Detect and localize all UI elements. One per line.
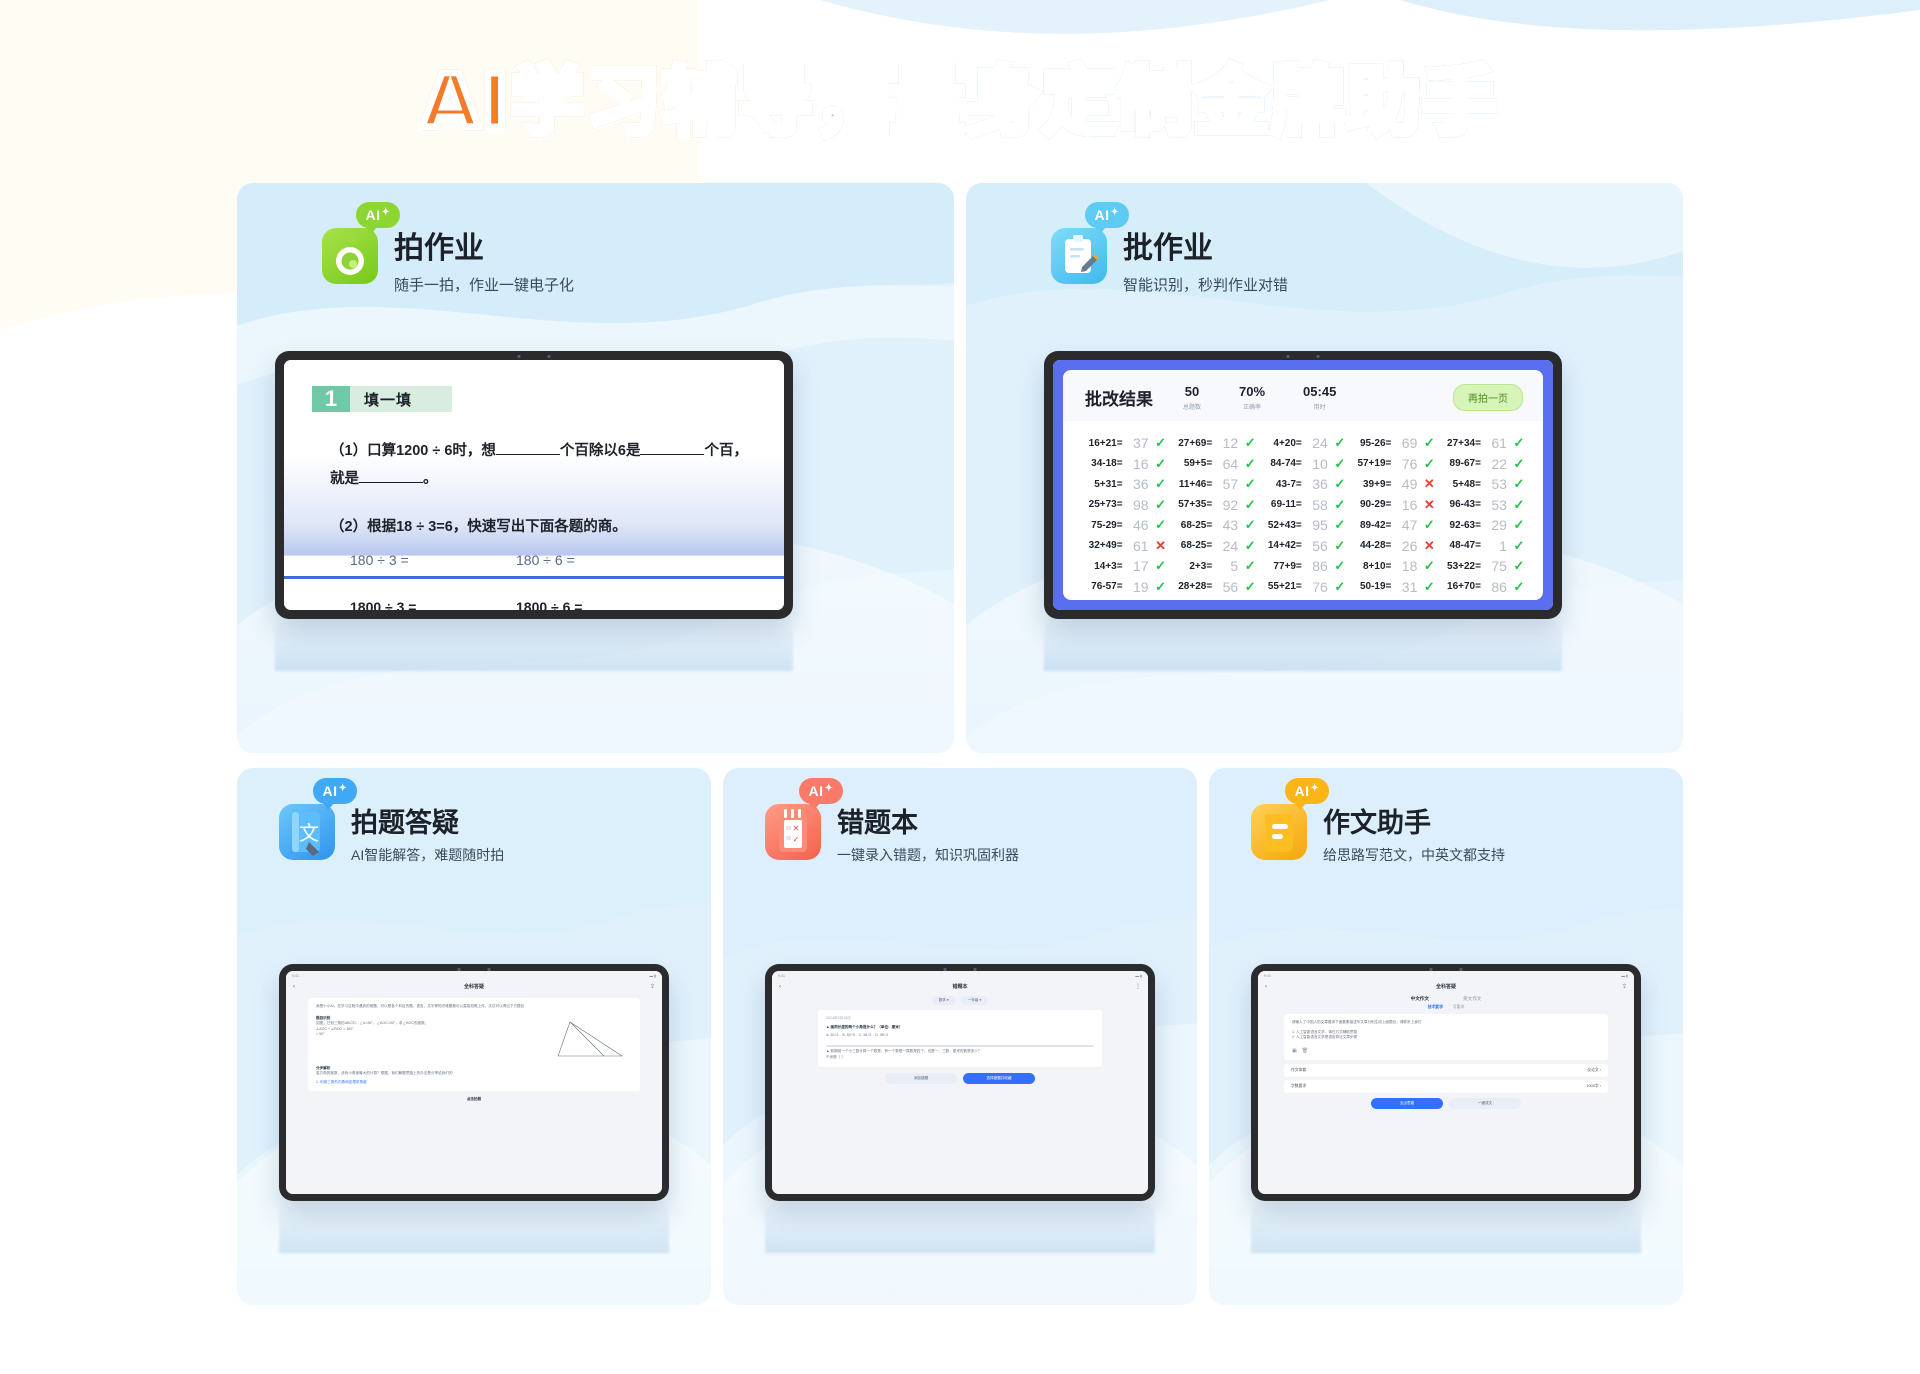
grading-expression: 55+21= <box>1268 581 1302 592</box>
grading-answer: 1 <box>1485 538 1507 554</box>
card-text: 作文助手 给思路写范文，中英文都支持 <box>1323 804 1505 865</box>
grading-answer: 18 <box>1395 558 1417 574</box>
back-icon[interactable]: ‹ <box>293 984 295 990</box>
grading-answer: 81 <box>1306 599 1328 600</box>
grading-expression: 5+48= <box>1453 479 1481 490</box>
tab-english-essay[interactable]: 英文作文 <box>1463 996 1481 1002</box>
grading-expression: 4+20= <box>1273 438 1301 449</box>
back-icon[interactable]: ‹ <box>1265 984 1267 990</box>
grading-expression: 68-25= <box>1181 540 1212 551</box>
grading-answer: 49 <box>1395 476 1417 492</box>
filter-subject[interactable]: 数学 ▾ <box>932 996 956 1005</box>
card-header-essay-assistant: AI✦ 作文助手 给思路写范文，中英文都支持 <box>1209 768 1683 865</box>
card-header-grade-homework: AI✦ 批作业 智能识别，秒判作业对错 <box>966 183 1683 295</box>
grading-expression: 76-57= <box>1091 581 1122 592</box>
status-time: 9:41 <box>1264 974 1271 978</box>
option-3[interactable]: D. 96÷3 <box>875 1033 888 1039</box>
ai-badge-label: AI <box>323 783 338 799</box>
nav-title: 错题本 <box>952 983 967 990</box>
icon-box: AI✦ ✕✓ <box>765 804 821 860</box>
grading-cell: 27+34=61✓ <box>1437 433 1527 454</box>
grading-cell: 76-57=19✓ <box>1079 577 1169 598</box>
card-text: 批作业 智能识别，秒判作业对错 <box>1123 228 1288 295</box>
book-wen-icon: 文 <box>279 804 335 860</box>
clipboard-pencil-icon <box>1051 228 1107 284</box>
check-icon: ✓ <box>1242 476 1258 492</box>
grading-cell: 68-25=43✓ <box>1169 515 1259 536</box>
check-icon: ✓ <box>1511 517 1527 533</box>
grading-answer: 92 <box>1216 497 1238 513</box>
tablet-frame: 9:41 ▬ ▮ ‹ 全科答疑 ⇪ 中文作文 英文作文 <box>1251 964 1641 1201</box>
icon-box: AI✦ 文 <box>279 804 335 860</box>
grading-answer: 76 <box>1306 579 1328 595</box>
check-icon: ✓ <box>1242 558 1258 574</box>
card-title: 拍作业 <box>394 232 574 267</box>
add-mistake-button[interactable]: 添加错题 <box>885 1073 957 1084</box>
card-title: 批作业 <box>1123 232 1288 267</box>
grading-cell: 32+49=61✕ <box>1079 536 1169 557</box>
grading-answer: 64 <box>1216 599 1238 600</box>
grading-cell: 69-11=58✓ <box>1258 495 1348 516</box>
mistake-extra-line: 千米是（ ） <box>826 1055 1094 1061</box>
tablet-frame: 批改结果 50 总题数 70% 正确率 <box>1044 351 1562 619</box>
essay-subtabs: 技术要求 写要求 <box>1258 1005 1634 1010</box>
grading-expression: 14+42= <box>1268 540 1302 551</box>
stat-value: 50 <box>1183 384 1201 399</box>
grading-cell: 4+20=24✓ <box>1258 433 1348 454</box>
grading-expression: 90-29= <box>1360 499 1391 510</box>
card-text: 拍作业 随手一拍，作业一键电子化 <box>394 228 574 295</box>
card-photo-homework[interactable]: AI✦ 拍作业 随手一拍，作业一键电子化 1 <box>237 183 954 753</box>
option-2[interactable]: C. 36÷3 <box>859 1033 872 1039</box>
tablet-worksheet-wrap: 1 填一填 （1）口算1200 ÷ 6时，想个百除以6是个百， 就是。 （2）根… <box>275 351 793 619</box>
grading-answer: 37 <box>1127 435 1149 451</box>
check-icon: ✓ <box>1242 579 1258 595</box>
grading-expression: 89-67= <box>1450 458 1481 469</box>
grading-expression: 16+70= <box>1447 581 1481 592</box>
mistake-item-card[interactable]: 2024年3月15日 ▲ 画同长度的两个小角是什么？（单位：厘米） A. 30÷… <box>818 1010 1102 1067</box>
grading-column: 27+34=61✓89-67=22✓5+48=53✓96-43=53✓92-63… <box>1437 433 1527 600</box>
qa-section2-body: 若方角的度数，该有小角度最大的计算？根据，我们解题思路上的办法是分享给我们的 <box>316 1071 632 1077</box>
equation-bold-1: 1800 ÷ 6 = <box>516 599 682 610</box>
check-icon: ✓ <box>1153 579 1169 595</box>
grading-cell: 11+46=57✓ <box>1169 474 1259 495</box>
grading-expression: 16+21= <box>1089 438 1123 449</box>
status-bar: 9:41 ▬ ▮ <box>1258 971 1634 981</box>
grading-answer: 75 <box>1485 558 1507 574</box>
page-title: AI学习辅导，量身定制金牌助手 <box>422 42 1499 149</box>
ai-badge-label: AI <box>1095 207 1110 223</box>
icon-box: AI✦ <box>1051 228 1107 284</box>
cross-icon: ✕ <box>1421 538 1437 554</box>
tablet-frame: 1 填一填 （1）口算1200 ÷ 6时，想个百除以6是个百， 就是。 （2）根… <box>275 351 793 619</box>
grading-answer: 26 <box>1395 538 1417 554</box>
tablet-screen[interactable]: 9:41 ▬ ▮ ‹ 错题本 ⋮ 数学 ▾ 一年级 ▾ <box>772 971 1148 1194</box>
check-icon: ✓ <box>1421 599 1437 600</box>
grading-cell: 34-18=16✓ <box>1079 454 1169 475</box>
grading-cell: 90-29=16✕ <box>1348 495 1438 516</box>
grading-cell: 46-29=17✓ <box>1437 597 1527 600</box>
nav-bar: ‹ 错题本 ⋮ <box>772 981 1148 993</box>
grading-cell: 57+35=92✓ <box>1169 495 1259 516</box>
tablet-reflection <box>275 619 793 671</box>
blank-1[interactable] <box>496 454 560 455</box>
card-mistake-notebook[interactable]: AI✦ ✕✓ 错题本 一键录入错题，知识巩固利器 9:41 <box>723 768 1197 1305</box>
ai-badge-label: AI <box>366 207 381 223</box>
grading-cell: 92-63=29✓ <box>1437 515 1527 536</box>
check-icon: ✓ <box>1242 599 1258 600</box>
q1-mid: 个百除以6是 <box>560 443 641 459</box>
grading-answer: 36 <box>1127 476 1149 492</box>
worksheet-question-1: （1）口算1200 ÷ 6时，想个百除以6是个百， 就是。 <box>330 438 784 493</box>
svg-text:✓: ✓ <box>793 835 800 844</box>
length-label: 字数要求 <box>1291 1084 1306 1089</box>
nav-title: 全科答疑 <box>1436 983 1456 990</box>
grading-stat-2: 05:45 用时 <box>1303 384 1336 411</box>
sparkle-icon: ✦ <box>382 207 391 218</box>
grading-stats: 50 总题数 70% 正确率 05:45 <box>1183 384 1336 411</box>
grading-cell: 16+70=86✓ <box>1437 577 1527 598</box>
grading-answer: 57 <box>1216 476 1238 492</box>
grading-header: 批改结果 50 总题数 70% 正确率 <box>1063 370 1543 421</box>
qa-footer-button[interactable]: 点击拍照 <box>467 1097 481 1101</box>
svg-text:文: 文 <box>299 821 319 845</box>
grading-expression: 75-29= <box>1091 520 1122 531</box>
ai-badge: AI✦ <box>799 778 843 804</box>
generate-outline-button[interactable]: 支出思路 <box>1371 1098 1443 1109</box>
grading-answer: 69 <box>1395 435 1417 451</box>
grading-screen: 批改结果 50 总题数 70% 正确率 <box>1053 360 1553 610</box>
grading-cell: 27+69=12✓ <box>1169 433 1259 454</box>
check-icon: ✓ <box>1421 456 1437 472</box>
card-title: 拍题答疑 <box>351 808 504 839</box>
grading-expression: 69-11= <box>1271 499 1302 510</box>
subtab-0[interactable]: 技术要求 <box>1428 1005 1443 1010</box>
grading-cell: 77+9=86✓ <box>1258 556 1348 577</box>
card-subtitle: 给思路写范文，中英文都支持 <box>1323 845 1505 865</box>
card-essay-assistant[interactable]: AI✦ 作文助手 给思路写范文，中英文都支持 9:41 <box>1209 768 1683 1305</box>
grading-cell: 95-26=69✓ <box>1348 433 1438 454</box>
grading-answer: 16 <box>1127 456 1149 472</box>
svg-text:✕: ✕ <box>793 824 800 833</box>
grading-expression: 77+9= <box>1273 561 1301 572</box>
grading-cell: 89-42=47✓ <box>1348 515 1438 536</box>
tablet-grading-wrap: 批改结果 50 总题数 70% 正确率 <box>1044 351 1562 619</box>
stat-label: 正确率 <box>1239 402 1265 411</box>
card-grade-homework[interactable]: AI✦ 批作业 智能识别，秒判作业对错 <box>966 183 1683 753</box>
stat-label: 总题数 <box>1183 402 1201 411</box>
grading-cell: 2+3=5✓ <box>1169 556 1259 577</box>
card-subtitle: 智能识别，秒判作业对错 <box>1123 274 1288 295</box>
grading-expression: 84-74= <box>1270 458 1301 469</box>
grading-expression: 8+10= <box>1363 561 1391 572</box>
grading-column: 27+69=12✓59+5=64✓11+46=57✓57+35=92✓68-25… <box>1169 433 1259 600</box>
card-title: 作文助手 <box>1323 808 1505 839</box>
one-click-essay-button[interactable]: 一键成文 <box>1449 1098 1521 1109</box>
worksheet-equations-gray: 180 ÷ 3 = 180 ÷ 6 = <box>350 552 784 568</box>
grading-answer: 76 <box>1395 456 1417 472</box>
stat-label: 用时 <box>1303 402 1336 411</box>
equation-gray-1: 180 ÷ 6 = <box>516 552 682 568</box>
grading-cell: 14+3=17✓ <box>1079 556 1169 577</box>
check-icon: ✓ <box>1421 579 1437 595</box>
grading-answer: 98 <box>1127 497 1149 513</box>
grading-answer: 19 <box>1127 579 1149 595</box>
check-icon: ✓ <box>1332 558 1348 574</box>
card-header-photo-homework: AI✦ 拍作业 随手一拍，作业一键电子化 <box>237 183 954 295</box>
tablet-screen[interactable]: 9:41 ▬ ▮ ‹ 全科答疑 ⇪ 我是小小AI，在学习过程中遇到的难题，可以是… <box>286 971 662 1194</box>
essay-app: 9:41 ▬ ▮ ‹ 全科答疑 ⇪ 中文作文 英文作文 <box>1258 971 1634 1194</box>
collect-mistake-button[interactable]: 选择错题并收藏 <box>963 1073 1035 1084</box>
check-icon: ✓ <box>1511 538 1527 554</box>
status-bar: 9:41 ▬ ▮ <box>286 971 662 981</box>
ai-badge: AI✦ <box>1085 202 1129 228</box>
grading-expression: 44-28= <box>1360 540 1391 551</box>
grading-expression: 50-19= <box>1360 581 1391 592</box>
camera-icon <box>322 228 378 284</box>
share-icon[interactable]: ⇪ <box>1622 983 1627 990</box>
more-icon[interactable]: ⋮ <box>1135 983 1141 990</box>
grading-expression: 89-42= <box>1360 520 1391 531</box>
check-icon: ✓ <box>1332 476 1348 492</box>
grading-cell: 28+28=56✓ <box>1169 577 1259 598</box>
essay-input-card[interactable]: 请输入了中国人的文章要求下面要素描述写文章分别生成上面题目，请联系上我们 1. … <box>1284 1014 1608 1060</box>
card-subtitle: 随手一拍，作业一键电子化 <box>394 274 574 295</box>
grading-expression: 34-18= <box>1091 458 1122 469</box>
tablet-frame: 9:41 ▬ ▮ ‹ 错题本 ⋮ 数学 ▾ 一年级 ▾ <box>765 964 1155 1201</box>
grading-cell: 8+10=18✓ <box>1348 556 1438 577</box>
grading-answer: 12 <box>1216 435 1238 451</box>
status-icons: ▬ ▮ <box>1135 974 1142 978</box>
card-subtitle: AI智能解答，难题随时拍 <box>351 845 504 865</box>
essay-bullet-1: 2. 人工智能语言文学是语言算法文章步骤 <box>1292 1035 1600 1041</box>
retake-page-button[interactable]: 再拍一页 <box>1453 384 1523 411</box>
tablet-reflection <box>279 1201 669 1253</box>
grading-answer: 61 <box>1485 435 1507 451</box>
page-title-wrap: AI学习辅导，量身定制金牌助手 <box>0 42 1920 149</box>
back-icon[interactable]: ‹ <box>779 984 781 990</box>
delete-icon[interactable]: 🗑 <box>1302 1048 1308 1054</box>
tablet-reflection <box>1044 619 1562 671</box>
card-header-mistake-notebook: AI✦ ✕✓ 错题本 一键录入错题，知识巩固利器 <box>723 768 1197 865</box>
option-0[interactable]: A. 30÷3 <box>826 1033 838 1039</box>
tablet-screen[interactable]: 9:41 ▬ ▮ ‹ 全科答疑 ⇪ 中文作文 英文作文 <box>1258 971 1634 1194</box>
check-icon: ✓ <box>1242 435 1258 451</box>
equation-gray-0: 180 ÷ 3 = <box>350 552 516 568</box>
grading-answer: 24 <box>1306 435 1328 451</box>
worksheet-equations-bold: 1800 ÷ 3 = 1800 ÷ 6 = <box>350 599 784 610</box>
camera-icon[interactable]: ▣ <box>1292 1048 1297 1054</box>
length-value: 1000字 › <box>1586 1084 1601 1089</box>
icon-box: AI✦ <box>322 228 378 284</box>
grading-answer: 17 <box>1485 599 1507 600</box>
filter-grade[interactable]: 一年级 ▾ <box>961 996 989 1005</box>
grading-cell: 5+48=53✓ <box>1437 474 1527 495</box>
status-icons: ▬ ▮ <box>649 974 656 978</box>
check-icon: ✓ <box>1511 456 1527 472</box>
grading-expression: 48-47= <box>1450 540 1481 551</box>
ai-badge-label: AI <box>1295 783 1310 799</box>
grading-expression: 52+43= <box>1268 520 1302 531</box>
q1-suffix: 个百， <box>704 443 748 459</box>
qa-app: 9:41 ▬ ▮ ‹ 全科答疑 ⇪ 我是小小AI，在学习过程中遇到的难题，可以是… <box>286 971 662 1194</box>
tablet-screen[interactable]: 1 填一填 （1）口算1200 ÷ 6时，想个百除以6是个百， 就是。 （2）根… <box>284 360 784 610</box>
ai-badge: AI✦ <box>313 778 357 804</box>
grading-expression: 95-26= <box>1360 438 1391 449</box>
mistakes-app: 9:41 ▬ ▮ ‹ 错题本 ⋮ 数学 ▾ 一年级 ▾ <box>772 971 1148 1194</box>
worksheet-tag-label: 填一填 <box>350 386 452 412</box>
grading-answer: 96 <box>1127 599 1149 600</box>
card-row-top: AI✦ 拍作业 随手一拍，作业一键电子化 1 <box>237 183 1684 753</box>
check-icon: ✓ <box>1511 558 1527 574</box>
sparkle-icon: ✦ <box>339 783 348 794</box>
feature-card-grid: AI✦ 拍作业 随手一拍，作业一键电子化 1 <box>237 183 1684 1305</box>
grading-expression: 27+34= <box>1447 438 1481 449</box>
qa-content-card: 我是小小AI，在学习过程中遇到的难题，可以是各个科目的题，语言、文字等知识难题都… <box>308 998 640 1091</box>
grading-expression: 92-63= <box>1450 520 1481 531</box>
grading-expression: 2+3= <box>1189 561 1212 572</box>
card-subtitle: 一键录入错题，知识巩固利器 <box>837 845 1019 865</box>
tablet-mistakes-wrap: 9:41 ▬ ▮ ‹ 错题本 ⋮ 数学 ▾ 一年级 ▾ <box>765 964 1155 1201</box>
grading-expression: 57+19= <box>1357 458 1391 469</box>
grading-cell: 43-7=36✓ <box>1258 474 1348 495</box>
cross-icon: ✕ <box>1421 497 1437 513</box>
check-icon: ✓ <box>1153 435 1169 451</box>
check-icon: ✓ <box>1332 599 1348 600</box>
grading-cell: 27+69=96✓ <box>1079 597 1169 600</box>
tablet-reflection <box>1251 1201 1641 1253</box>
check-icon: ✓ <box>1242 456 1258 472</box>
grading-expression: 68-25= <box>1181 520 1212 531</box>
check-icon: ✓ <box>1332 497 1348 513</box>
grading-cell: 25+73=98✓ <box>1079 495 1169 516</box>
cross-icon: ✕ <box>1421 476 1437 492</box>
grading-cell: 16+21=37✓ <box>1079 433 1169 454</box>
tablet-reflection <box>765 1201 1155 1253</box>
check-icon: ✓ <box>1511 579 1527 595</box>
check-icon: ✓ <box>1242 497 1258 513</box>
q1-line2-suffix: 。 <box>423 471 438 487</box>
grading-cell: 39+9=49✕ <box>1348 474 1438 495</box>
tablet-screen[interactable]: 批改结果 50 总题数 70% 正确率 <box>1053 360 1553 610</box>
grading-title: 批改结果 <box>1085 385 1153 410</box>
check-icon: ✓ <box>1153 497 1169 513</box>
blank-2[interactable] <box>640 454 704 455</box>
blank-3[interactable] <box>359 482 423 483</box>
mistake-date-tag: 2024年3月15日 <box>826 1016 1094 1022</box>
status-icons: ▬ ▮ <box>1621 974 1628 978</box>
subtab-1[interactable]: 写要求 <box>1453 1005 1464 1010</box>
grading-stat-1: 70% 正确率 <box>1239 384 1265 411</box>
grading-cell: 59+5=64✓ <box>1169 454 1259 475</box>
card-text: 错题本 一键录入错题，知识巩固利器 <box>837 804 1019 865</box>
check-icon: ✓ <box>1332 579 1348 595</box>
grading-cell: 68-25=24✓ <box>1169 536 1259 557</box>
grading-answer: 53 <box>1485 497 1507 513</box>
option-1[interactable]: B. 50÷5 <box>842 1033 854 1039</box>
check-icon: ✓ <box>1242 538 1258 554</box>
grading-cell: 55+21=76✓ <box>1258 577 1348 598</box>
grading-grid: 16+21=37✓34-18=16✓5+31=36✓25+73=98✓75-29… <box>1063 421 1543 600</box>
sparkle-icon: ✦ <box>1311 783 1320 794</box>
qa-section3-title: 1. 利用三角形内角和定理求角度 <box>316 1080 632 1086</box>
grading-expression: 43-7= <box>1276 479 1302 490</box>
check-icon: ✓ <box>1421 435 1437 451</box>
mistake-question: ▲ 画同长度的两个小角是什么？（单位：厘米） <box>826 1025 1094 1031</box>
grading-panel: 批改结果 50 总题数 70% 正确率 <box>1063 370 1543 600</box>
grading-answer: 74 <box>1395 599 1417 600</box>
grading-stat-0: 50 总题数 <box>1183 384 1201 411</box>
grading-answer: 10 <box>1306 456 1328 472</box>
mistake-action-buttons: 添加错题 选择错题并收藏 <box>772 1073 1148 1084</box>
stat-value: 70% <box>1239 384 1265 399</box>
grading-expression: 28+28= <box>1178 581 1212 592</box>
sparkle-icon: ✦ <box>1111 207 1120 218</box>
card-photo-question-answer[interactable]: AI✦ 文 拍题答疑 AI智能解答，难题随时拍 9:41 <box>237 768 711 1305</box>
stat-value: 05:45 <box>1303 384 1336 399</box>
grading-expression: 27+69= <box>1178 438 1212 449</box>
essay-genre-row[interactable]: 作文体裁 议论文 › <box>1284 1064 1608 1077</box>
ai-badge: AI✦ <box>356 202 400 228</box>
cross-icon: ✕ <box>1153 538 1169 554</box>
essay-action-buttons: 支出思路 一键成文 <box>1258 1098 1634 1109</box>
q1-prefix: （1）口算1200 ÷ 6时，想 <box>330 443 496 459</box>
worksheet-number: 1 <box>312 386 350 412</box>
grading-answer: 86 <box>1485 579 1507 595</box>
ai-badge: AI✦ <box>1285 778 1329 804</box>
card-text: 拍题答疑 AI智能解答，难题随时拍 <box>351 804 504 865</box>
grading-cell: 14+42=56✓ <box>1258 536 1348 557</box>
grading-answer: 36 <box>1306 476 1328 492</box>
grading-answer: 43 <box>1216 517 1238 533</box>
check-icon: ✓ <box>1511 599 1527 600</box>
worksheet-tag: 1 填一填 <box>312 386 452 412</box>
check-icon: ✓ <box>1511 435 1527 451</box>
geometry-diagram <box>552 1016 632 1062</box>
tab-chinese-essay[interactable]: 中文作文 <box>1411 996 1429 1002</box>
grading-expression: 14+3= <box>1094 561 1122 572</box>
check-icon: ✓ <box>1153 476 1169 492</box>
q1-line2-prefix: 就是 <box>330 471 359 487</box>
grading-answer: 58 <box>1306 497 1328 513</box>
grading-expression: 32+49= <box>1089 540 1123 551</box>
grading-cell: 57+19=76✓ <box>1348 454 1438 475</box>
grading-column: 16+21=37✓34-18=16✓5+31=36✓25+73=98✓75-29… <box>1079 433 1169 600</box>
grading-answer: 24 <box>1216 538 1238 554</box>
grading-expression: 59+5= <box>1184 458 1212 469</box>
grading-expression: 53+22= <box>1447 561 1481 572</box>
share-icon[interactable]: ⇪ <box>650 983 655 990</box>
grading-cell: 28+53=81✓ <box>1258 597 1348 600</box>
status-time: 9:41 <box>292 974 299 978</box>
grading-cell: 52+43=95✓ <box>1258 515 1348 536</box>
grading-answer: 53 <box>1485 476 1507 492</box>
status-bar: 9:41 ▬ ▮ <box>772 971 1148 981</box>
grading-cell: 53+22=75✓ <box>1437 556 1527 577</box>
grading-cell: 84-74=10✓ <box>1258 454 1348 475</box>
check-icon: ✓ <box>1421 517 1437 533</box>
card-row-bottom: AI✦ 文 拍题答疑 AI智能解答，难题随时拍 9:41 <box>237 768 1684 1305</box>
essay-length-row[interactable]: 字数要求 1000字 › <box>1284 1080 1608 1093</box>
grading-answer: 31 <box>1395 579 1417 595</box>
grading-cell: 48-47=1✓ <box>1437 536 1527 557</box>
genre-value: 议论文 › <box>1587 1068 1601 1073</box>
qa-section1-line-1: = 90° <box>316 1032 546 1038</box>
grading-cell: 89-67=22✓ <box>1437 454 1527 475</box>
equation-bold-0: 1800 ÷ 3 = <box>350 599 516 610</box>
grading-cell: 44-28=26✕ <box>1348 536 1438 557</box>
check-icon: ✓ <box>1511 476 1527 492</box>
